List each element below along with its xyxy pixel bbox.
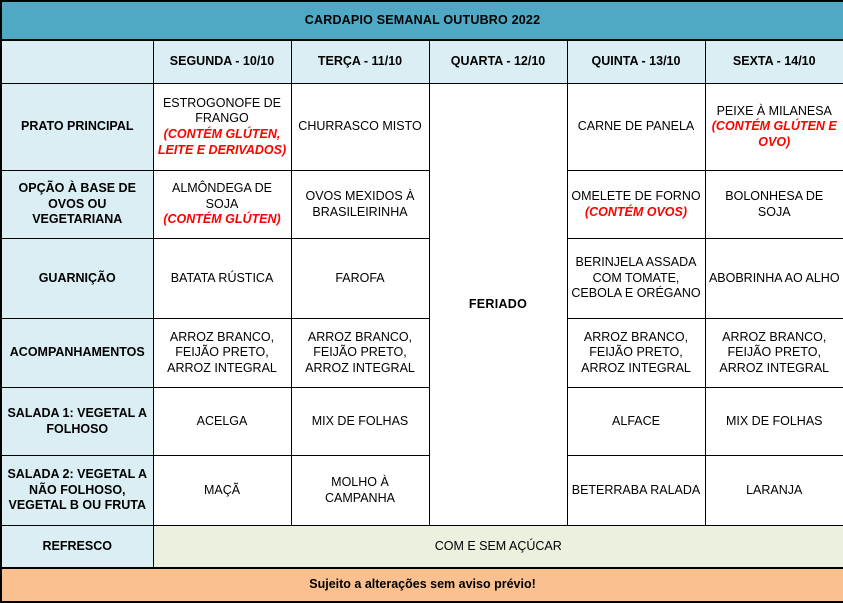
dish-name: BATATA RÚSTICA	[157, 271, 288, 287]
allergen-warning: (CONTÉM GLÚTEN, LEITE E DERIVADOS)	[157, 127, 288, 158]
cell-opcao-quinta: OMELETE DE FORNO (CONTÉM OVOS)	[567, 171, 705, 239]
cell-prato-terca: CHURRASCO MISTO	[291, 84, 429, 171]
footer-row: Sujeito a alterações sem aviso prévio!	[1, 568, 843, 602]
cell-guarnicao-terca: FAROFA	[291, 239, 429, 319]
document-title: CARDAPIO SEMANAL OUTUBRO 2022	[1, 1, 843, 40]
dish-name: BOLONHESA DE SOJA	[709, 189, 841, 220]
row-label-prato-principal: PRATO PRINCIPAL	[1, 84, 153, 171]
allergen-warning: (CONTÉM OVOS)	[571, 205, 702, 221]
cell-salada2-quinta: BETERRABA RALADA	[567, 456, 705, 526]
cell-opcao-sexta: BOLONHESA DE SOJA	[705, 171, 843, 239]
day-header-sexta: SEXTA - 14/10	[705, 40, 843, 84]
dish-name: ALMÔNDEGA DE SOJA	[157, 181, 288, 212]
day-header-quarta: QUARTA - 12/10	[429, 40, 567, 84]
row-label-opcao-vegetariana: OPÇÃO À BASE DE OVOS OU VEGETARIANA	[1, 171, 153, 239]
dish-name: PEIXE À MILANESA	[709, 104, 841, 120]
title-row: CARDAPIO SEMANAL OUTUBRO 2022	[1, 1, 843, 40]
dish-name: BETERRABA RALADA	[571, 483, 702, 499]
row-label-guarnicao: GUARNIÇÃO	[1, 239, 153, 319]
dish-name: OMELETE DE FORNO	[571, 189, 702, 205]
table-row: PRATO PRINCIPAL ESTROGONOFE DE FRANGO (C…	[1, 84, 843, 171]
cell-salada2-terca: MOLHO À CAMPANHA	[291, 456, 429, 526]
dish-name: LARANJA	[709, 483, 841, 499]
dish-name: OVOS MEXIDOS À BRASILEIRINHA	[295, 189, 426, 220]
cell-salada1-terca: MIX DE FOLHAS	[291, 388, 429, 456]
dish-name: CHURRASCO MISTO	[295, 119, 426, 135]
cell-acompanhamentos-segunda: ARROZ BRANCO, FEIJÃO PRETO, ARROZ INTEGR…	[153, 319, 291, 388]
cell-opcao-segunda: ALMÔNDEGA DE SOJA (CONTÉM GLÚTEN)	[153, 171, 291, 239]
dish-name: ARROZ BRANCO, FEIJÃO PRETO, ARROZ INTEGR…	[709, 330, 841, 377]
cell-acompanhamentos-quinta: ARROZ BRANCO, FEIJÃO PRETO, ARROZ INTEGR…	[567, 319, 705, 388]
day-header-quinta: QUINTA - 13/10	[567, 40, 705, 84]
day-header-segunda: SEGUNDA - 10/10	[153, 40, 291, 84]
dish-name: ARROZ BRANCO, FEIJÃO PRETO, ARROZ INTEGR…	[571, 330, 702, 377]
refresco-value: COM E SEM AÇÚCAR	[153, 526, 843, 569]
holiday-cell-quarta: FERIADO	[429, 84, 567, 526]
cell-guarnicao-segunda: BATATA RÚSTICA	[153, 239, 291, 319]
refresco-row: REFRESCO COM E SEM AÇÚCAR	[1, 526, 843, 569]
cell-salada1-sexta: MIX DE FOLHAS	[705, 388, 843, 456]
cell-acompanhamentos-terca: ARROZ BRANCO, FEIJÃO PRETO, ARROZ INTEGR…	[291, 319, 429, 388]
allergen-warning: (CONTÉM GLÚTEN)	[157, 212, 288, 228]
cell-salada1-quinta: ALFACE	[567, 388, 705, 456]
cell-guarnicao-quinta: BERINJELA ASSADA COM TOMATE, CEBOLA E OR…	[567, 239, 705, 319]
dish-name: MIX DE FOLHAS	[295, 414, 426, 430]
table-row: SALADA 2: VEGETAL A NÃO FOLHOSO, VEGETAL…	[1, 456, 843, 526]
menu-sheet: CARDAPIO SEMANAL OUTUBRO 2022 SEGUNDA - …	[0, 0, 843, 560]
cell-opcao-terca: OVOS MEXIDOS À BRASILEIRINHA	[291, 171, 429, 239]
table-row: GUARNIÇÃO BATATA RÚSTICA FAROFA BERINJEL…	[1, 239, 843, 319]
cell-acompanhamentos-sexta: ARROZ BRANCO, FEIJÃO PRETO, ARROZ INTEGR…	[705, 319, 843, 388]
cell-salada1-segunda: ACELGA	[153, 388, 291, 456]
footer-note: Sujeito a alterações sem aviso prévio!	[1, 568, 843, 602]
dish-name: ACELGA	[157, 414, 288, 430]
dish-name: MIX DE FOLHAS	[709, 414, 841, 430]
row-label-salada-2: SALADA 2: VEGETAL A NÃO FOLHOSO, VEGETAL…	[1, 456, 153, 526]
dish-name: ESTROGONOFE DE FRANGO	[157, 96, 288, 127]
row-label-refresco: REFRESCO	[1, 526, 153, 569]
cell-prato-quinta: CARNE DE PANELA	[567, 84, 705, 171]
dish-name: ABOBRINHA AO ALHO	[709, 271, 841, 287]
dish-name: ARROZ BRANCO, FEIJÃO PRETO, ARROZ INTEGR…	[295, 330, 426, 377]
row-label-salada-1: SALADA 1: VEGETAL A FOLHOSO	[1, 388, 153, 456]
cell-guarnicao-sexta: ABOBRINHA AO ALHO	[705, 239, 843, 319]
cell-prato-segunda: ESTROGONOFE DE FRANGO (CONTÉM GLÚTEN, LE…	[153, 84, 291, 171]
cell-salada2-sexta: LARANJA	[705, 456, 843, 526]
dish-name: ARROZ BRANCO, FEIJÃO PRETO, ARROZ INTEGR…	[157, 330, 288, 377]
allergen-warning: (CONTÉM GLÚTEN E OVO)	[709, 119, 841, 150]
cell-prato-sexta: PEIXE À MILANESA (CONTÉM GLÚTEN E OVO)	[705, 84, 843, 171]
dish-name: CARNE DE PANELA	[571, 119, 702, 135]
dish-name: MOLHO À CAMPANHA	[295, 475, 426, 506]
dish-name: FAROFA	[295, 271, 426, 287]
row-label-acompanhamentos: ACOMPANHAMENTOS	[1, 319, 153, 388]
dish-name: BERINJELA ASSADA COM TOMATE, CEBOLA E OR…	[571, 255, 702, 302]
cell-salada2-segunda: MAÇÃ	[153, 456, 291, 526]
day-header-terca: TERÇA - 11/10	[291, 40, 429, 84]
table-row: SALADA 1: VEGETAL A FOLHOSO ACELGA MIX D…	[1, 388, 843, 456]
dish-name: ALFACE	[571, 414, 702, 430]
weekly-menu-table: CARDAPIO SEMANAL OUTUBRO 2022 SEGUNDA - …	[0, 0, 843, 603]
corner-blank-cell	[1, 40, 153, 84]
dish-name: MAÇÃ	[157, 483, 288, 499]
table-row: OPÇÃO À BASE DE OVOS OU VEGETARIANA ALMÔ…	[1, 171, 843, 239]
day-header-row: SEGUNDA - 10/10 TERÇA - 11/10 QUARTA - 1…	[1, 40, 843, 84]
table-row: ACOMPANHAMENTOS ARROZ BRANCO, FEIJÃO PRE…	[1, 319, 843, 388]
